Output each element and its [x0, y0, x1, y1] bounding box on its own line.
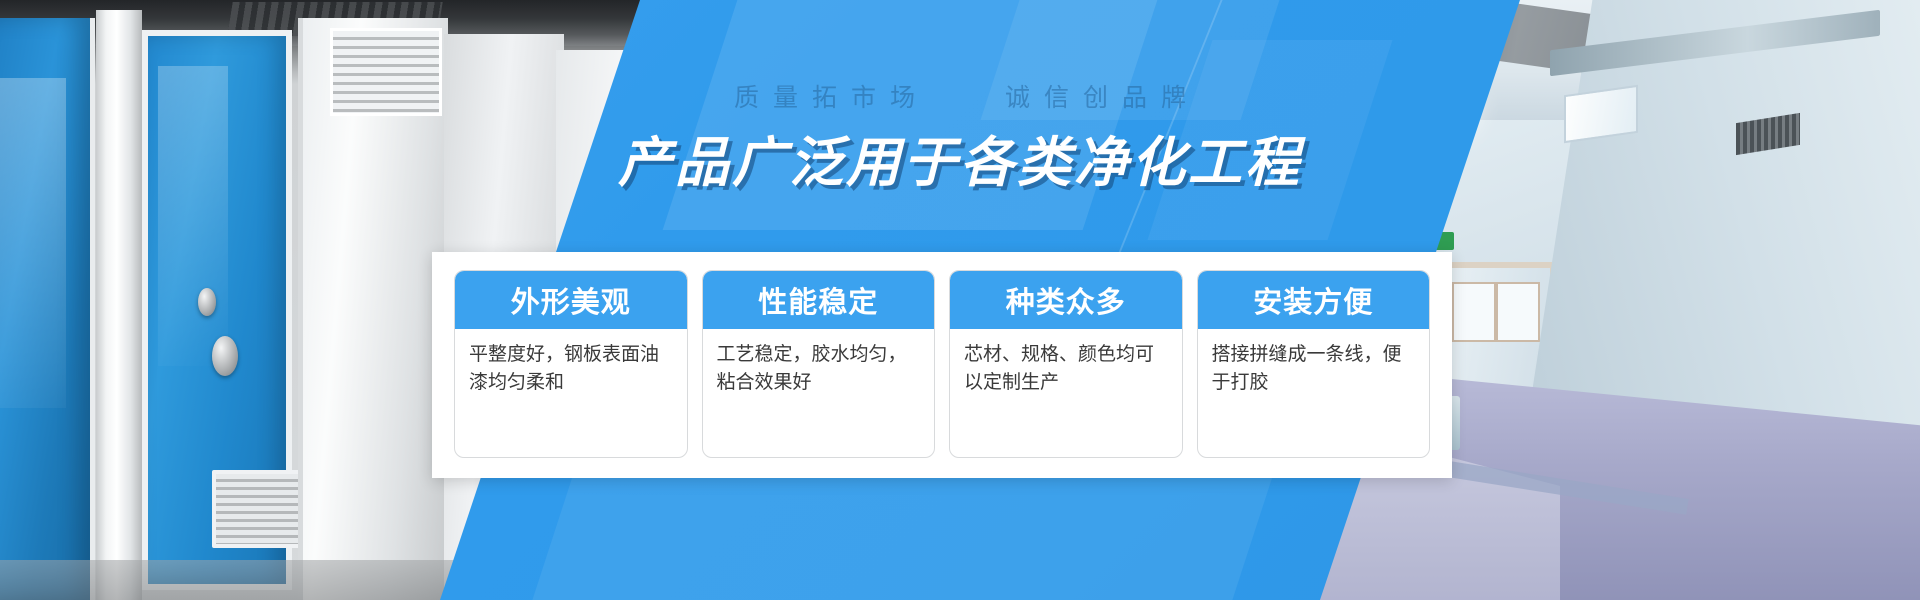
feature-card-4[interactable]: 安装方便 搭接拼缝成一条线，便于打胶 — [1197, 270, 1431, 458]
tagline-left-text: 质量拓市场 — [734, 84, 929, 112]
feature-card-1[interactable]: 外形美观 平整度好，钢板表面油漆均匀柔和 — [454, 270, 688, 458]
feature-card-2[interactable]: 性能稳定 工艺稳定，胶水均匀，粘合效果好 — [702, 270, 936, 458]
feature-card-3-title: 种类众多 — [950, 271, 1182, 329]
feature-card-3-body: 芯材、规格、颜色均可以定制生产 — [950, 329, 1182, 457]
feature-card-2-body: 工艺稳定，胶水均匀，粘合效果好 — [703, 329, 935, 457]
feature-card-4-body: 搭接拼缝成一条线，便于打胶 — [1198, 329, 1430, 457]
promo-banner: 质量拓市场 诚信创品牌 产品广泛用于各类净化工程 外形美观 平整度好，钢板表面油… — [0, 0, 1920, 600]
feature-card-3[interactable]: 种类众多 芯材、规格、颜色均可以定制生产 — [949, 270, 1183, 458]
feature-card-1-title: 外形美观 — [455, 271, 687, 329]
tagline-right-text: 诚信创品牌 — [1005, 84, 1200, 112]
page-title: 产品广泛用于各类净化工程 — [0, 118, 1920, 197]
feature-card-4-title: 安装方便 — [1198, 271, 1430, 329]
tagline: 质量拓市场 诚信创品牌 — [0, 78, 1920, 114]
feature-card-2-title: 性能稳定 — [703, 271, 935, 329]
feature-panel: 外形美观 平整度好，钢板表面油漆均匀柔和 性能稳定 工艺稳定，胶水均匀，粘合效果… — [432, 252, 1452, 478]
feature-card-1-body: 平整度好，钢板表面油漆均匀柔和 — [455, 329, 687, 457]
